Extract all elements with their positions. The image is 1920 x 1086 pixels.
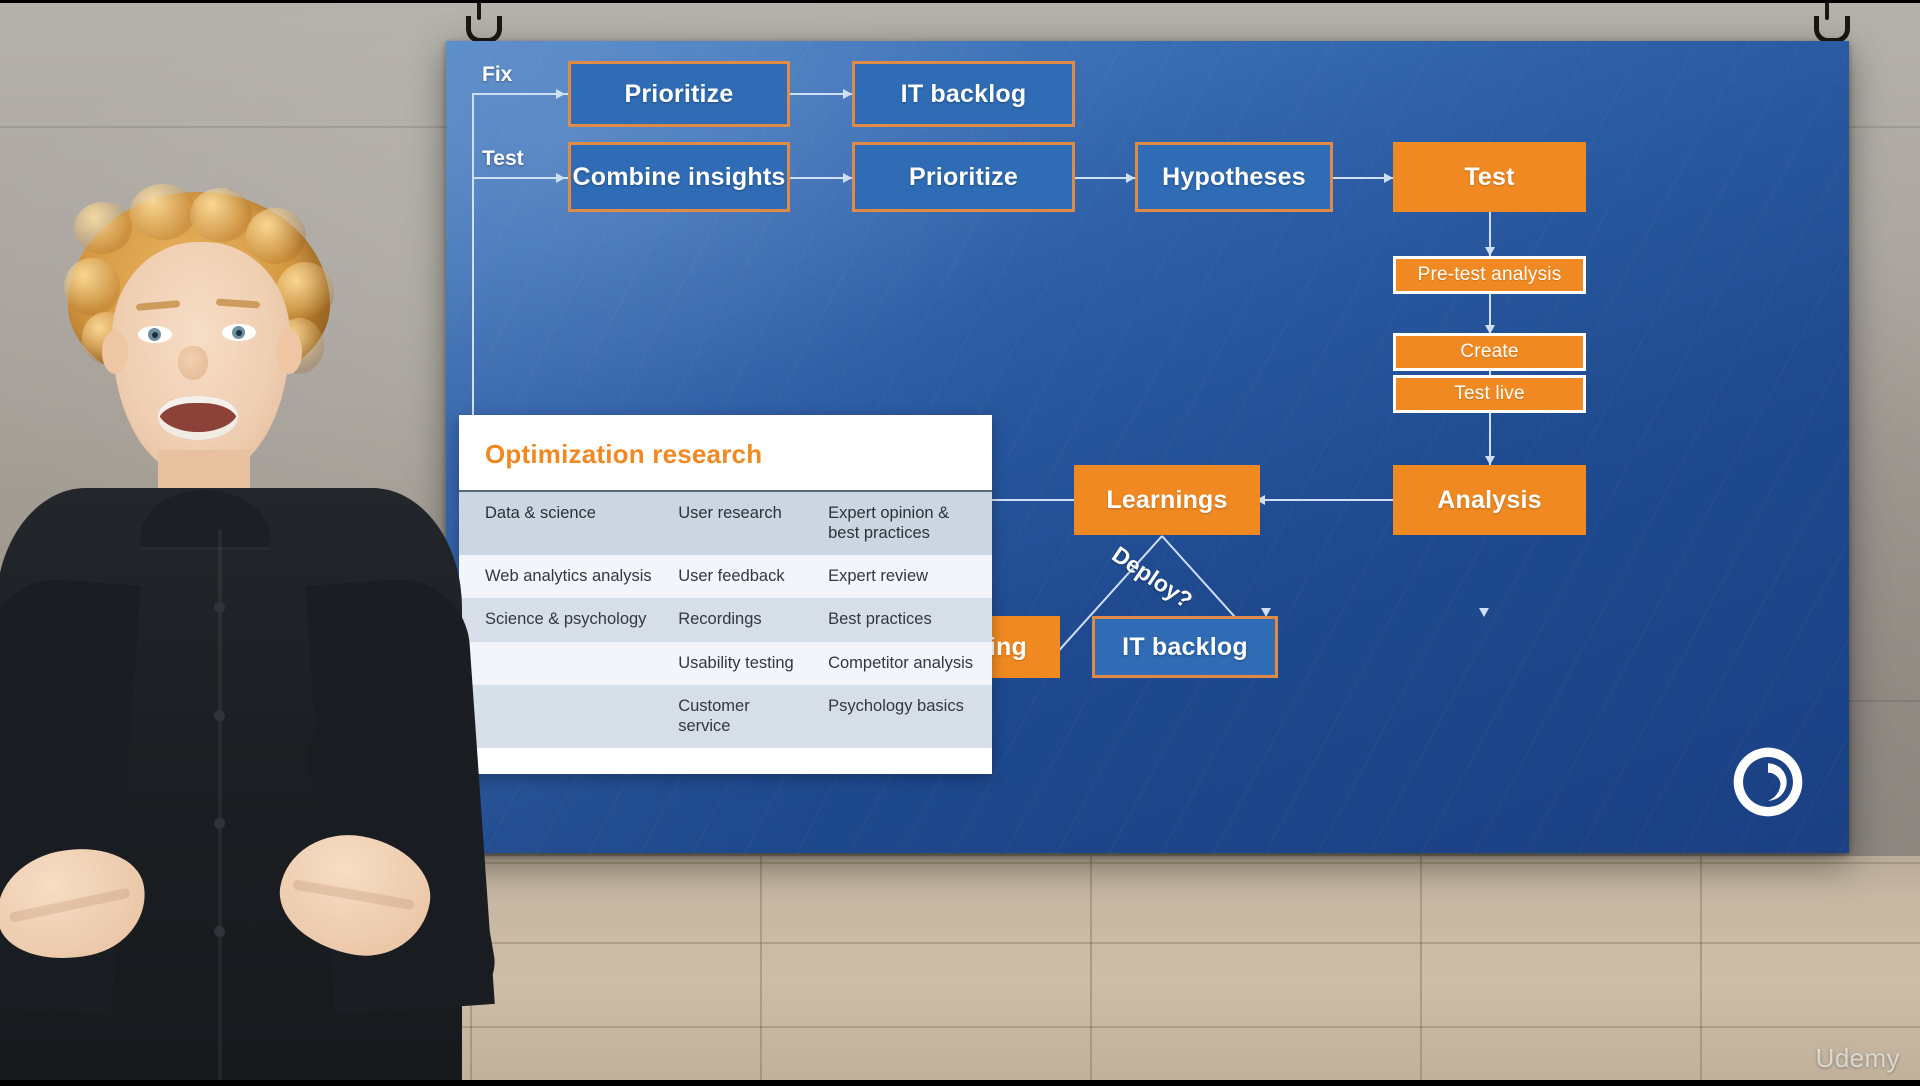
- edge-label-deploy: Deploy?: [1107, 541, 1197, 614]
- cell-expert-opinion: Expert review: [816, 555, 992, 598]
- node-label: Pre-test analysis: [1418, 264, 1562, 286]
- node-label: Combine insights: [573, 163, 786, 192]
- table-row: Science & psychology Recordings Best pra…: [459, 598, 992, 641]
- column-header-expert-opinion: Expert opinion & best practices: [816, 492, 992, 555]
- cell-user-research: Customer service: [672, 685, 816, 748]
- cell-user-research: User feedback: [672, 555, 816, 598]
- cell-expert-opinion: Competitor analysis: [816, 642, 992, 685]
- research-table: Data & science User research Expert opin…: [459, 492, 992, 748]
- node-combine-insights[interactable]: Combine insights: [568, 142, 790, 212]
- node-pre-test-analysis[interactable]: Pre-test analysis: [1393, 256, 1586, 294]
- arrow-to-it-backlog-top: [843, 89, 852, 99]
- video-frame: Fix Test Prioritize IT backlog Combine i…: [0, 0, 1920, 1086]
- presenter-eye-right: [222, 324, 256, 341]
- udemy-watermark: Udemy: [1816, 1043, 1900, 1074]
- presenter-shirt-placket: [218, 530, 222, 1086]
- node-it-backlog-top[interactable]: IT backlog: [852, 61, 1075, 127]
- cell-user-research: Recordings: [672, 598, 816, 641]
- table-header-row: Data & science User research Expert opin…: [459, 492, 992, 555]
- node-label: Prioritize: [625, 80, 734, 109]
- node-hypotheses[interactable]: Hypotheses: [1135, 142, 1333, 212]
- node-prioritize-mid[interactable]: Prioritize: [852, 142, 1075, 212]
- arrow-to-prioritize-mid: [843, 173, 852, 183]
- arrow-to-test: [1384, 173, 1393, 183]
- presenter-eye-left: [138, 326, 172, 343]
- presenter-nose: [178, 346, 208, 380]
- node-label: IT backlog: [1122, 633, 1248, 662]
- node-learnings[interactable]: Learnings: [1074, 465, 1260, 535]
- optimization-research-card: Optimization research Data & science Use…: [459, 415, 992, 774]
- node-create[interactable]: Create: [1393, 333, 1586, 371]
- udemy-swirl-logo: [1729, 743, 1807, 821]
- column-header-user-research: User research: [672, 492, 816, 555]
- node-label: Learnings: [1106, 486, 1227, 515]
- presenter-mouth: [158, 396, 238, 440]
- node-label: Test: [1464, 163, 1514, 192]
- node-test[interactable]: Test: [1393, 142, 1586, 212]
- edge-label-fix: Fix: [482, 63, 512, 87]
- node-label: Create: [1460, 341, 1518, 363]
- node-label: IT backlog: [901, 80, 1027, 109]
- letterbox-top: [0, 0, 1920, 3]
- table-row: Web analytics analysis User feedback Exp…: [459, 555, 992, 598]
- node-it-backlog-bottom[interactable]: IT backlog: [1092, 616, 1278, 678]
- arrow-to-pre-test-analysis: [1485, 247, 1495, 256]
- presenter-ear-right: [276, 330, 302, 374]
- cell-expert-opinion: Psychology basics: [816, 685, 992, 748]
- node-label: Hypotheses: [1162, 163, 1306, 192]
- node-analysis[interactable]: Analysis: [1393, 465, 1586, 535]
- cell-expert-opinion: Best practices: [816, 598, 992, 641]
- arrow-to-analysis: [1485, 456, 1495, 465]
- table-row: Customer service Psychology basics: [459, 685, 992, 748]
- arrow-to-combine-insights: [556, 173, 565, 183]
- arrow-to-it-backlog-bottom: [1479, 608, 1489, 617]
- node-label: Analysis: [1437, 486, 1541, 515]
- presenter-ear-left: [102, 330, 128, 374]
- node-test-live[interactable]: Test live: [1393, 375, 1586, 413]
- letterbox-bottom: [0, 1080, 1920, 1086]
- presenter: [0, 150, 530, 1086]
- node-label: Prioritize: [909, 163, 1018, 192]
- research-card-title: Optimization research: [459, 415, 992, 490]
- cell-user-research: Usability testing: [672, 642, 816, 685]
- link-analysis-to-learnings: [1260, 499, 1393, 501]
- arrow-to-hypotheses: [1126, 173, 1135, 183]
- table-row: Usability testing Competitor analysis: [459, 642, 992, 685]
- node-label: Test live: [1454, 383, 1524, 405]
- node-prioritize-top[interactable]: Prioritize: [568, 61, 790, 127]
- arrow-to-prioritize-top: [556, 89, 565, 99]
